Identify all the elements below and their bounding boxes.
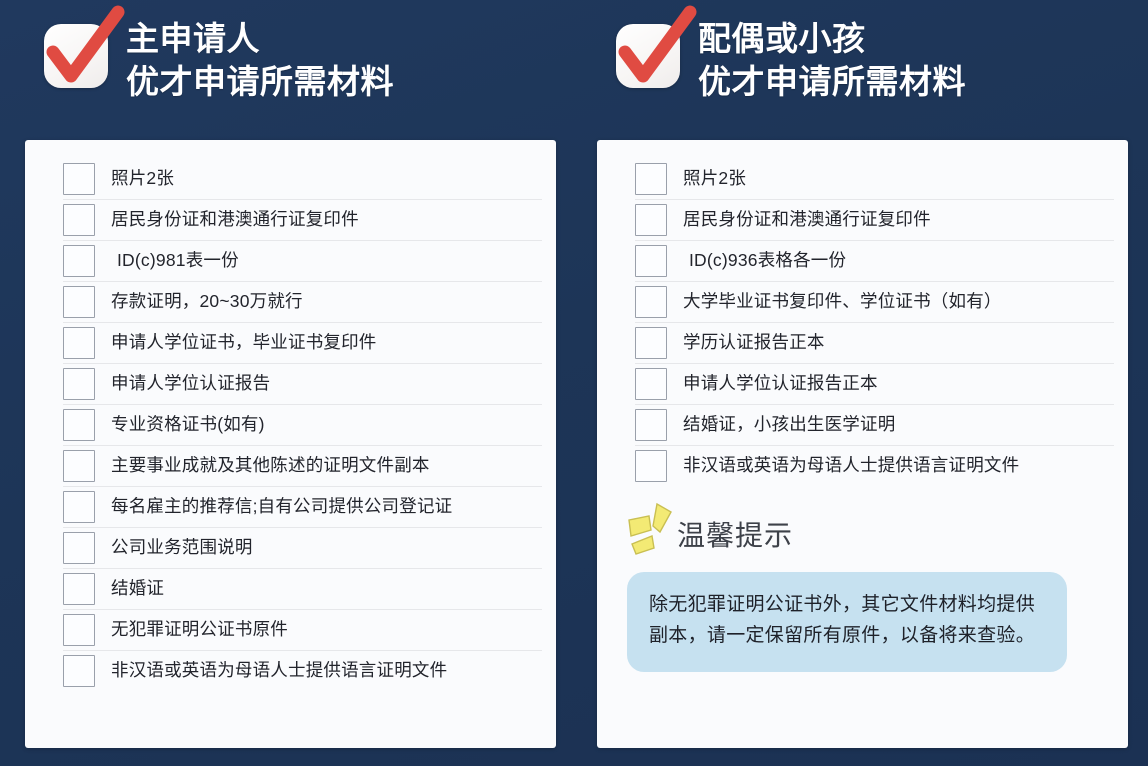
checkbox-icon[interactable] <box>63 245 95 277</box>
list-item[interactable]: 申请人学位证书，毕业证书复印件 <box>63 322 538 363</box>
column-title-line2: 优才申请所需材料 <box>698 61 966 104</box>
column-title-line2: 优才申请所需材料 <box>126 61 394 104</box>
list-item-label: 非汉语或英语为母语人士提供语言证明文件 <box>683 455 1019 476</box>
tips-bubble: 除无犯罪证明公证书外，其它文件材料均提供副本，请一定保留所有原件，以备将来查验。 <box>627 572 1067 672</box>
list-item-label: 结婚证，小孩出生医学证明 <box>683 414 895 435</box>
list-item[interactable]: 存款证明，20~30万就行 <box>63 281 538 322</box>
list-item[interactable]: ID(c)936表格各一份 <box>635 240 1110 281</box>
checklist-panel-main-applicant: 照片2张 居民身份证和港澳通行证复印件 ID(c)981表一份 存款证明，20~… <box>25 140 556 748</box>
checkbox-icon[interactable] <box>63 163 95 195</box>
checkbox-icon[interactable] <box>63 532 95 564</box>
list-item-label: 每名雇主的推荐信;自有公司提供公司登记证 <box>111 496 452 517</box>
checkbox-icon[interactable] <box>63 655 95 687</box>
tips-body: 除无犯罪证明公证书外，其它文件材料均提供副本，请一定保留所有原件，以备将来查验。 <box>649 590 1045 652</box>
checkbox-icon[interactable] <box>63 491 95 523</box>
list-item-label: 照片2张 <box>111 168 174 189</box>
checkbox-icon[interactable] <box>635 204 667 236</box>
list-item-label: 申请人学位认证报告正本 <box>683 373 878 394</box>
column-header-spouse-or-child: 配偶或小孩 优才申请所需材料 <box>616 14 966 104</box>
column-main-applicant: 主申请人 优才申请所需材料 照片2张 居民身份证和港澳通行证复印件 ID(c)9… <box>18 0 558 766</box>
list-item[interactable]: 居民身份证和港澳通行证复印件 <box>63 199 538 240</box>
checkbox-icon[interactable] <box>635 163 667 195</box>
checkbox-icon[interactable] <box>63 286 95 318</box>
poster-canvas: 主申请人 优才申请所需材料 照片2张 居民身份证和港澳通行证复印件 ID(c)9… <box>0 0 1148 766</box>
list-item[interactable]: 非汉语或英语为母语人士提供语言证明文件 <box>635 445 1110 486</box>
checklist-panel-spouse-or-child: 照片2张 居民身份证和港澳通行证复印件 ID(c)936表格各一份 大学毕业证书… <box>597 140 1128 748</box>
list-item[interactable]: ID(c)981表一份 <box>63 240 538 281</box>
list-item-label: 居民身份证和港澳通行证复印件 <box>111 209 359 230</box>
checkbox-icon[interactable] <box>635 286 667 318</box>
checkbox-icon[interactable] <box>63 327 95 359</box>
list-item[interactable]: 每名雇主的推荐信;自有公司提供公司登记证 <box>63 486 538 527</box>
check-mark-icon <box>44 24 108 88</box>
list-item[interactable]: 非汉语或英语为母语人士提供语言证明文件 <box>63 650 538 691</box>
list-item-label: 专业资格证书(如有) <box>111 414 265 435</box>
list-item[interactable]: 大学毕业证书复印件、学位证书（如有） <box>635 281 1110 322</box>
list-item-label: 学历认证报告正本 <box>683 332 825 353</box>
tips-header: 温馨提示 <box>627 508 1110 560</box>
tips-section: 温馨提示 除无犯罪证明公证书外，其它文件材料均提供副本，请一定保留所有原件，以备… <box>627 508 1110 672</box>
list-item-label: 结婚证 <box>111 578 164 599</box>
checkbox-icon[interactable] <box>63 204 95 236</box>
list-item[interactable]: 结婚证 <box>63 568 538 609</box>
list-item[interactable]: 申请人学位认证报告正本 <box>635 363 1110 404</box>
list-item-label: 申请人学位认证报告 <box>111 373 270 394</box>
checkbox-icon[interactable] <box>635 368 667 400</box>
list-item[interactable]: 无犯罪证明公证书原件 <box>63 609 538 650</box>
list-item[interactable]: 居民身份证和港澳通行证复印件 <box>635 199 1110 240</box>
checklist-main-applicant: 照片2张 居民身份证和港澳通行证复印件 ID(c)981表一份 存款证明，20~… <box>25 158 556 691</box>
column-title-block: 主申请人 优才申请所需材料 <box>126 14 394 104</box>
sparkle-icon <box>627 502 681 560</box>
checkbox-icon[interactable] <box>635 409 667 441</box>
list-item[interactable]: 学历认证报告正本 <box>635 322 1110 363</box>
checkbox-icon[interactable] <box>635 450 667 482</box>
checkbox-icon[interactable] <box>63 368 95 400</box>
list-item-label: 主要事业成就及其他陈述的证明文件副本 <box>111 455 430 476</box>
checkbox-icon[interactable] <box>635 245 667 277</box>
list-item-label: 无犯罪证明公证书原件 <box>111 619 288 640</box>
list-item[interactable]: 专业资格证书(如有) <box>63 404 538 445</box>
list-item[interactable]: 主要事业成就及其他陈述的证明文件副本 <box>63 445 538 486</box>
checkbox-icon[interactable] <box>63 614 95 646</box>
list-item-label: ID(c)981表一份 <box>111 250 239 271</box>
list-item-label: 公司业务范围说明 <box>111 537 253 558</box>
checkbox-icon[interactable] <box>63 409 95 441</box>
column-header-main-applicant: 主申请人 优才申请所需材料 <box>44 14 394 104</box>
tips-title: 温馨提示 <box>677 514 793 554</box>
checkbox-icon[interactable] <box>635 327 667 359</box>
column-title-block: 配偶或小孩 优才申请所需材料 <box>698 14 966 104</box>
list-item-label: 大学毕业证书复印件、学位证书（如有） <box>683 291 1002 312</box>
column-spouse-or-child: 配偶或小孩 优才申请所需材料 照片2张 居民身份证和港澳通行证复印件 ID(c)… <box>590 0 1130 766</box>
checkbox-icon[interactable] <box>63 573 95 605</box>
list-item-label: ID(c)936表格各一份 <box>683 250 846 271</box>
checklist-spouse-or-child: 照片2张 居民身份证和港澳通行证复印件 ID(c)936表格各一份 大学毕业证书… <box>597 158 1128 486</box>
list-item[interactable]: 申请人学位认证报告 <box>63 363 538 404</box>
list-item-label: 居民身份证和港澳通行证复印件 <box>683 209 931 230</box>
list-item[interactable]: 照片2张 <box>635 158 1110 199</box>
list-item[interactable]: 结婚证，小孩出生医学证明 <box>635 404 1110 445</box>
list-item-label: 存款证明，20~30万就行 <box>111 291 303 312</box>
list-item-label: 非汉语或英语为母语人士提供语言证明文件 <box>111 660 447 681</box>
checkbox-icon[interactable] <box>63 450 95 482</box>
list-item-label: 申请人学位证书，毕业证书复印件 <box>111 332 377 353</box>
list-item-label: 照片2张 <box>683 168 746 189</box>
column-title-line1: 配偶或小孩 <box>698 18 966 61</box>
column-title-line1: 主申请人 <box>126 18 394 61</box>
list-item[interactable]: 公司业务范围说明 <box>63 527 538 568</box>
check-mark-icon <box>616 24 680 88</box>
list-item[interactable]: 照片2张 <box>63 158 538 199</box>
